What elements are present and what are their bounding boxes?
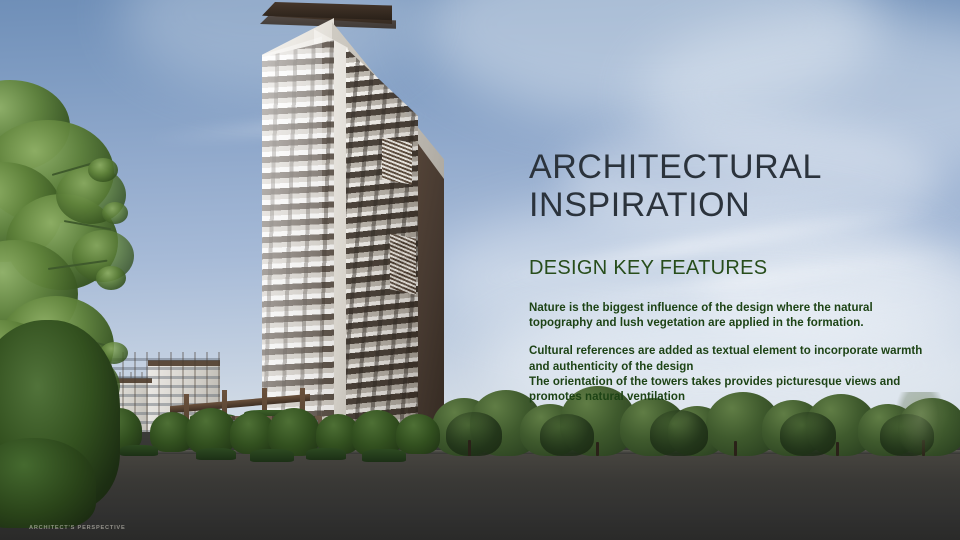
slide-subtitle: DESIGN KEY FEATURES bbox=[529, 257, 929, 279]
asphalt-road bbox=[0, 454, 960, 540]
render-disclaimer-caption: ARCHITECT'S PERSPECTIVE bbox=[29, 525, 126, 531]
feature-paragraph-1: Nature is the biggest influence of the d… bbox=[529, 301, 929, 331]
presentation-slide: ARCHITECTURAL INSPIRATION DESIGN KEY FEA… bbox=[0, 0, 960, 540]
tower-louvre-screen bbox=[382, 137, 412, 184]
feature-paragraph-3: The orientation of the towers takes prov… bbox=[529, 375, 929, 405]
slide-title-line1: ARCHITECTURAL bbox=[529, 148, 929, 186]
slide-text-block: ARCHITECTURAL INSPIRATION DESIGN KEY FEA… bbox=[529, 148, 929, 405]
feature-paragraph-2: Cultural references are added as textual… bbox=[529, 344, 929, 374]
slide-title-line2: INSPIRATION bbox=[529, 186, 929, 224]
tower-louvre-screen-lower bbox=[390, 233, 416, 295]
